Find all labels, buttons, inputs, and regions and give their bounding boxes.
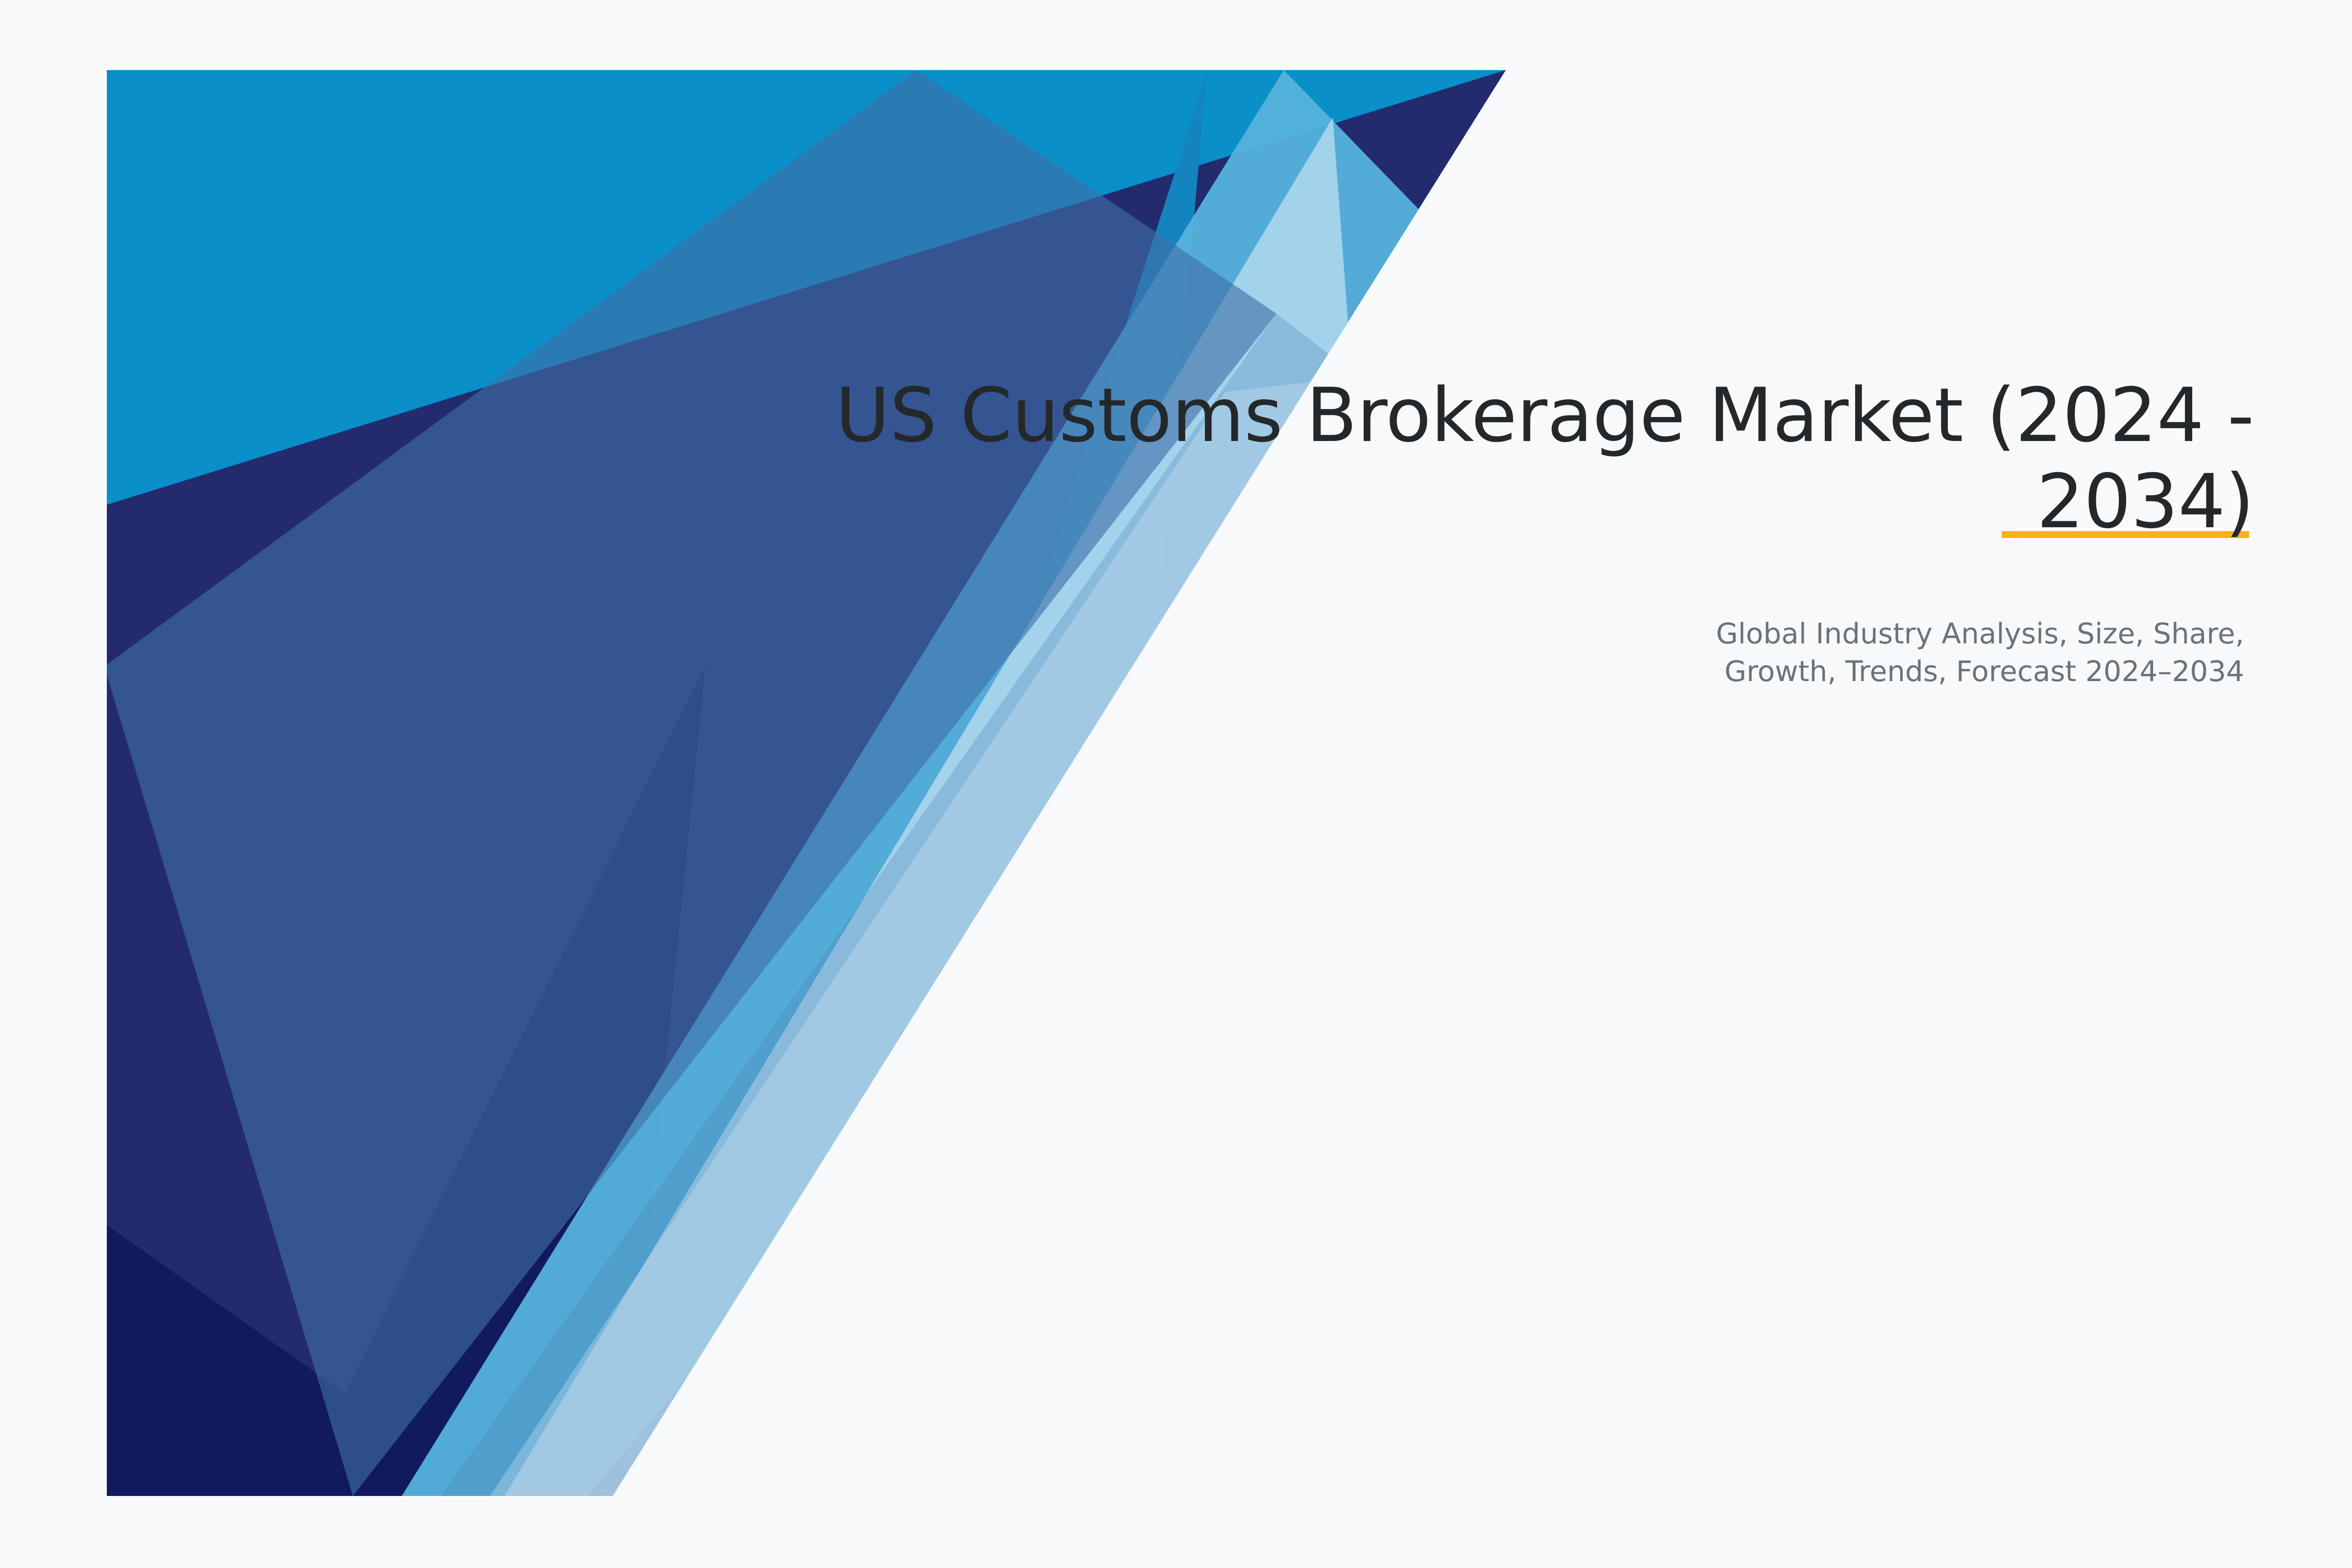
- artwork-shape-deep-navy-corner: [107, 1225, 490, 1496]
- artwork-shape-cyan-base: [107, 70, 1508, 1498]
- cover-artwork: [0, 0, 2352, 1568]
- title-wrapper: US Customs Brokerage Market (2024 - 2034…: [735, 372, 2254, 545]
- artwork-shape-navy-band: [107, 70, 1506, 1496]
- artwork-shape-pale-ribbon: [505, 118, 1352, 1496]
- artwork-shape-slate-overlay: [104, 70, 1276, 1496]
- page-title: US Customs Brokerage Market (2024 - 2034…: [735, 372, 2254, 545]
- artwork-shape-deep-navy-wedge: [294, 665, 706, 1496]
- page-subtitle: Global Industry Analysis, Size, Share, G…: [735, 545, 2254, 691]
- artwork-shape-sky-ribbon: [402, 70, 1548, 1496]
- slide-root: US Customs Brokerage Market (2024 - 2034…: [0, 0, 2352, 1568]
- hero-text-block: US Customs Brokerage Market (2024 - 2034…: [735, 372, 2254, 691]
